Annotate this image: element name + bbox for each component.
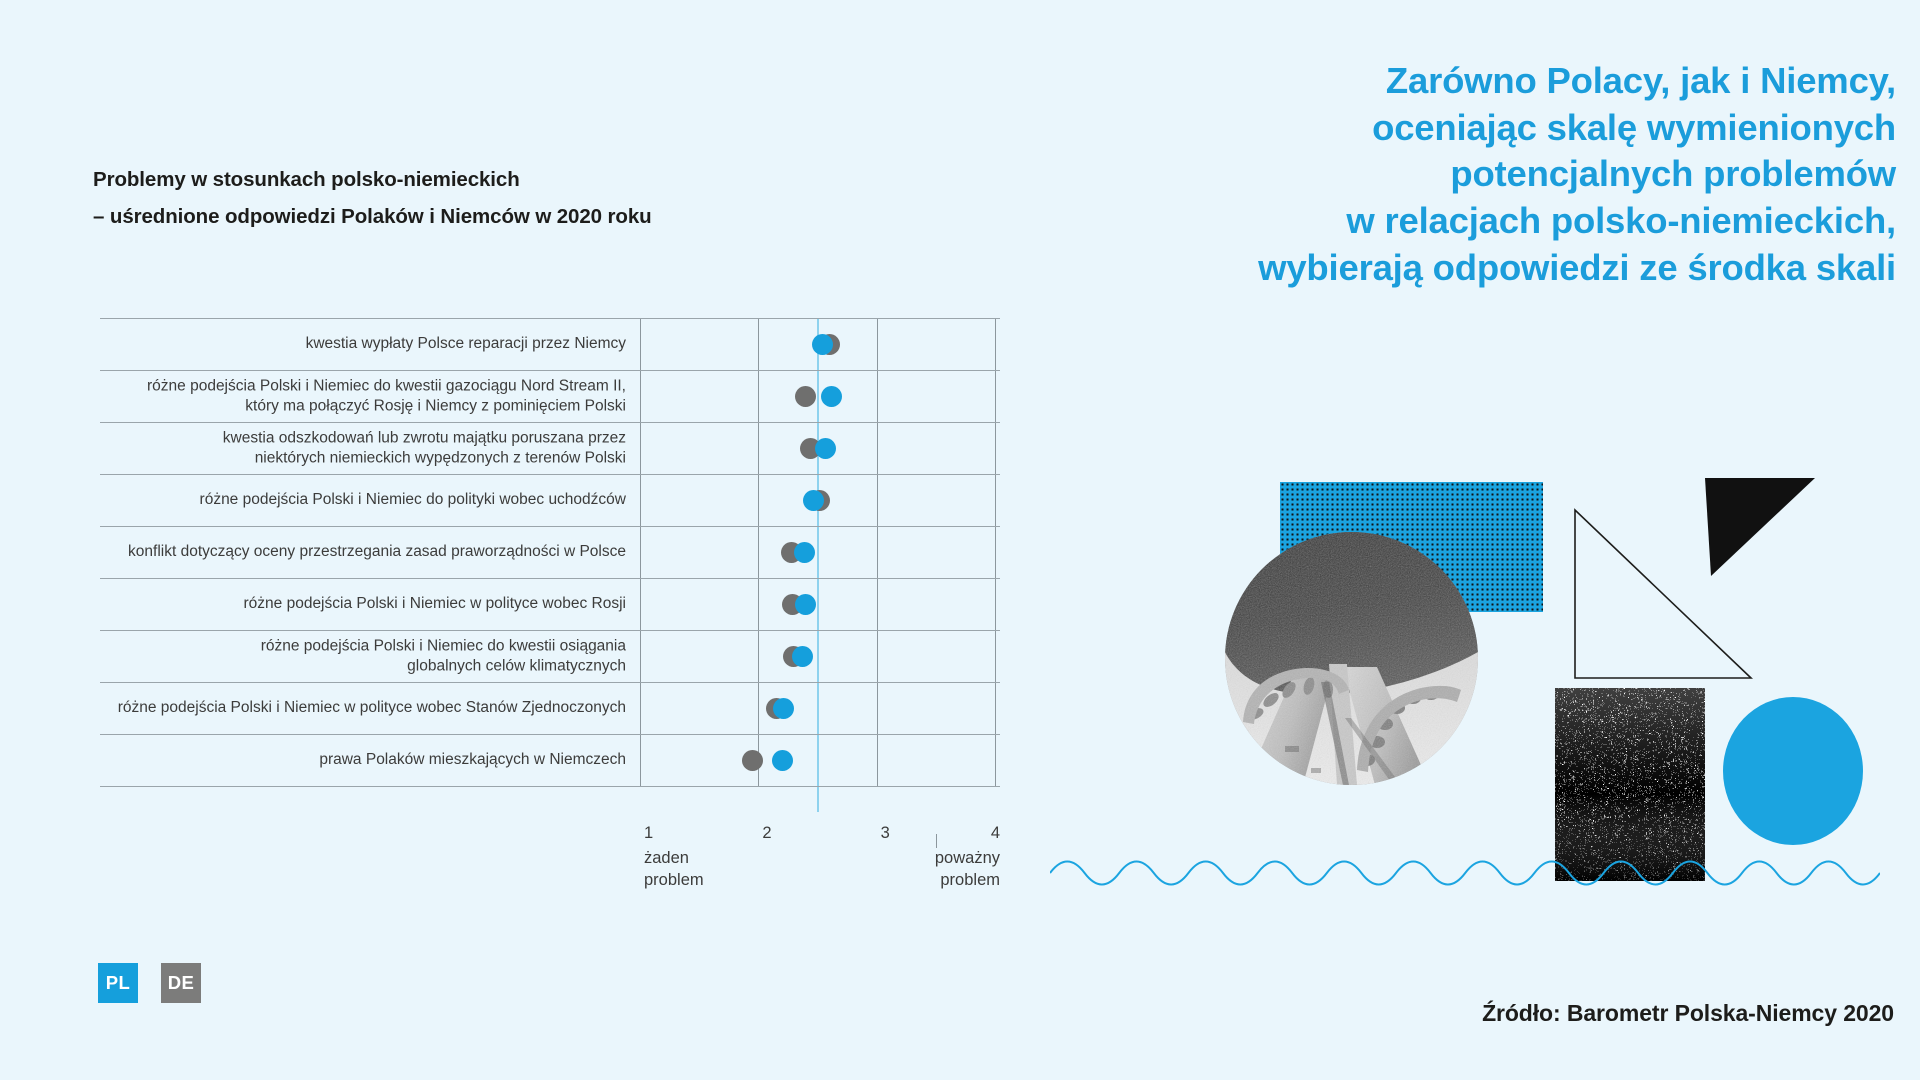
x-axis-caption-line: poważny bbox=[890, 848, 1000, 870]
language-badge-pl[interactable]: PL bbox=[98, 963, 138, 1003]
x-axis-tick-label: 1 bbox=[644, 824, 724, 843]
headline-line: potencjalnych problemów bbox=[1056, 151, 1896, 198]
chart-row-label-line: kwestia odszkodowań lub zwrotu majątku p… bbox=[96, 428, 626, 448]
infographic-page: Problemy w stosunkach polsko-niemieckich… bbox=[0, 0, 1920, 1080]
chart-row-label-line: różne podejścia Polski i Niemiec do kwes… bbox=[96, 376, 626, 396]
data-point-polacy bbox=[821, 386, 842, 407]
x-axis-tick-label: 2 bbox=[762, 824, 842, 843]
chart-row-label: prawa Polaków mieszkających w Niemczech bbox=[96, 750, 626, 770]
chart-row: różne podejścia Polski i Niemiec do kwes… bbox=[100, 370, 1000, 422]
chart-row: prawa Polaków mieszkających w Niemczech bbox=[100, 734, 1000, 786]
chart-row-label-line: prawa Polaków mieszkających w Niemczech bbox=[96, 750, 626, 770]
headline-line: wybierają odpowiedzi ze środka skali bbox=[1056, 245, 1896, 292]
chart-row-label: różne podejścia Polski i Niemiec do poli… bbox=[96, 490, 626, 510]
chart-title: Problemy w stosunkach polsko-niemieckich bbox=[93, 168, 853, 192]
data-point-niemcy bbox=[742, 750, 763, 771]
dot-plot-chart: kwestia wypłaty Polsce reparacji przez N… bbox=[100, 310, 1000, 810]
data-point-polacy bbox=[803, 490, 824, 511]
noise-texture-svg bbox=[1555, 688, 1705, 881]
chart-row-label-line: kwestia wypłaty Polsce reparacji przez N… bbox=[96, 334, 626, 354]
data-point-niemcy bbox=[795, 386, 816, 407]
x-axis-tick-label: 4 bbox=[920, 824, 1000, 843]
x-axis-caption-line: problem bbox=[644, 870, 754, 892]
language-badge-de[interactable]: DE bbox=[161, 963, 201, 1003]
headline-panel: Zarówno Polacy, jak i Niemcy,oceniając s… bbox=[1030, 0, 1920, 1080]
data-point-polacy bbox=[792, 646, 813, 667]
x-axis-caption-line: problem bbox=[890, 870, 1000, 892]
chart-row-label: kwestia odszkodowań lub zwrotu majątku p… bbox=[96, 428, 626, 467]
headline-line: Zarówno Polacy, jak i Niemcy, bbox=[1056, 58, 1896, 105]
x-axis-caption-line: żaden bbox=[644, 848, 754, 870]
chart-row-label-line: różne podejścia Polski i Niemiec w polit… bbox=[96, 698, 626, 718]
chart-row: różne podejścia Polski i Niemiec do kwes… bbox=[100, 630, 1000, 682]
chart-row-label: różne podejścia Polski i Niemiec w polit… bbox=[96, 698, 626, 718]
data-point-polacy bbox=[794, 542, 815, 563]
headline-line: oceniając skalę wymienionych bbox=[1056, 105, 1896, 152]
chart-row-label-line: różne podejścia Polski i Niemiec w polit… bbox=[96, 594, 626, 614]
chart-row-label: konflikt dotyczący oceny przestrzegania … bbox=[96, 542, 626, 562]
x-axis-tick-caption: poważnyproblem bbox=[890, 848, 1000, 892]
source-note: Źródło: Barometr Polska-Niemcy 2020 bbox=[1482, 1000, 1894, 1027]
chart-row-label: kwestia wypłaty Polsce reparacji przez N… bbox=[96, 334, 626, 354]
decorative-collage bbox=[1030, 460, 1920, 960]
chart-row-label-line: konflikt dotyczący oceny przestrzegania … bbox=[96, 542, 626, 562]
chart-row-label: różne podejścia Polski i Niemiec w polit… bbox=[96, 594, 626, 614]
x-axis-tick-caption: żadenproblem bbox=[644, 848, 754, 892]
black-triangle-decoration bbox=[1705, 478, 1815, 576]
x-axis: 1żadenproblem234poważnyproblem bbox=[100, 812, 1000, 942]
chart-row: różne podejścia Polski i Niemiec do poli… bbox=[100, 474, 1000, 526]
chart-row: konflikt dotyczący oceny przestrzegania … bbox=[100, 526, 1000, 578]
chart-row: różne podejścia Polski i Niemiec w polit… bbox=[100, 682, 1000, 734]
data-point-polacy bbox=[772, 750, 793, 771]
chart-row: różne podejścia Polski i Niemiec w polit… bbox=[100, 578, 1000, 630]
chart-row-label: różne podejścia Polski i Niemiec do kwes… bbox=[96, 636, 626, 675]
noise-texture-decoration bbox=[1555, 688, 1705, 881]
wave-line-decoration bbox=[1050, 856, 1880, 890]
chart-row-label: różne podejścia Polski i Niemiec do kwes… bbox=[96, 376, 626, 415]
data-point-polacy bbox=[773, 698, 794, 719]
chart-row-label-line: globalnych celów klimatycznych bbox=[96, 656, 626, 676]
axis-caption-tick bbox=[936, 834, 937, 848]
chart-row-label-line: różne podejścia Polski i Niemiec do kwes… bbox=[96, 636, 626, 656]
chart-row-label-line: niektórych niemieckich wypędzonych z ter… bbox=[96, 448, 626, 468]
chart-panel: Problemy w stosunkach polsko-niemieckich… bbox=[0, 0, 1030, 1080]
pipeline-photo-svg bbox=[1225, 532, 1478, 785]
language-switch[interactable]: PLDE bbox=[98, 963, 201, 1003]
headline-text: Zarówno Polacy, jak i Niemcy,oceniając s… bbox=[1056, 58, 1896, 292]
gridline-horizontal bbox=[100, 786, 1000, 787]
pipeline-photo-circle bbox=[1225, 532, 1478, 785]
chart-row: kwestia wypłaty Polsce reparacji przez N… bbox=[100, 318, 1000, 370]
headline-line: w relacjach polsko-niemieckich, bbox=[1056, 198, 1896, 245]
blue-ellipse-decoration bbox=[1723, 697, 1863, 845]
chart-row-label-line: który ma połączyć Rosję i Niemcy z pomin… bbox=[96, 396, 626, 416]
data-point-polacy bbox=[812, 334, 833, 355]
chart-row: kwestia odszkodowań lub zwrotu majątku p… bbox=[100, 422, 1000, 474]
data-point-polacy bbox=[795, 594, 816, 615]
chart-subtitle: – uśrednione odpowiedzi Polaków i Niemcó… bbox=[93, 205, 893, 229]
chart-row-label-line: różne podejścia Polski i Niemiec do poli… bbox=[96, 490, 626, 510]
data-point-polacy bbox=[815, 438, 836, 459]
